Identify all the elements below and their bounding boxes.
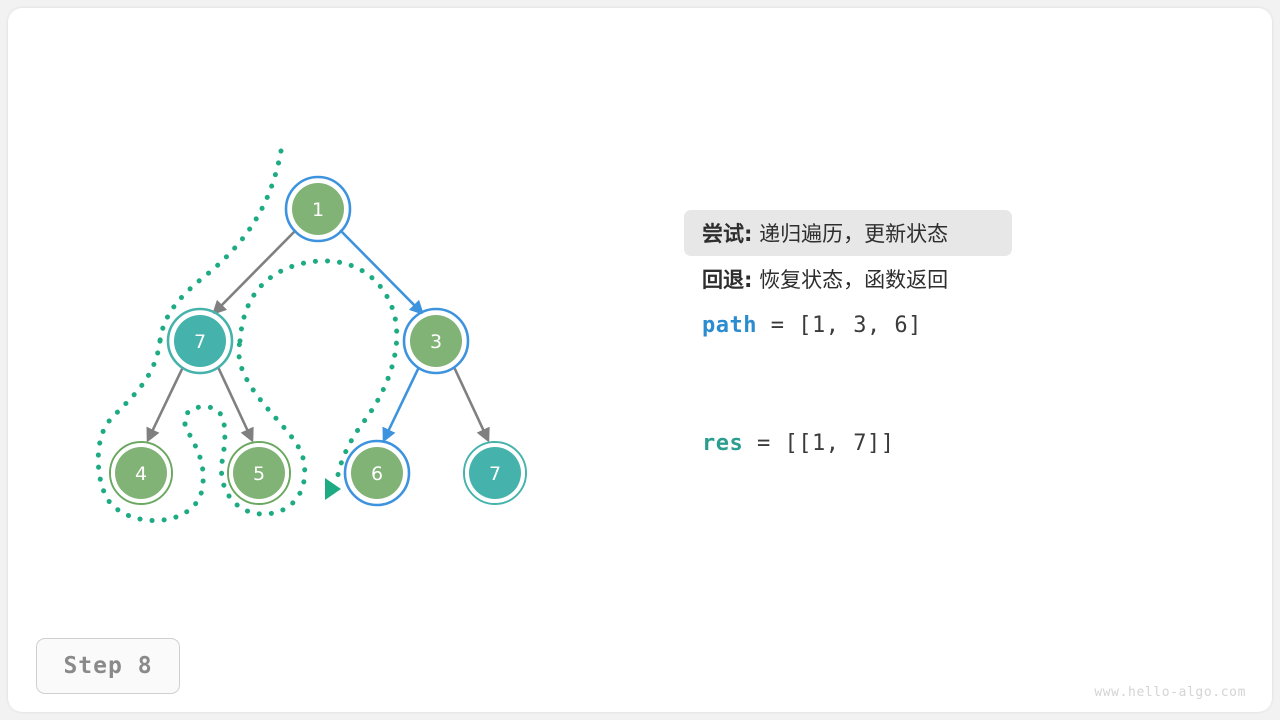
tree-nodes: 1 7 3 4 bbox=[110, 177, 526, 505]
tree-node-6[interactable]: 6 bbox=[345, 441, 409, 505]
info-row-path: path = [1, 3, 6] bbox=[684, 302, 1104, 348]
diagram-canvas: 1 7 3 4 bbox=[0, 0, 1280, 720]
tree-node-5[interactable]: 5 bbox=[228, 442, 290, 504]
tree-node-4-label: 4 bbox=[135, 463, 147, 485]
edge-1-to-7left bbox=[214, 230, 296, 313]
info-row-try: 尝试: 递归遍历，更新状态 bbox=[684, 210, 1012, 256]
trail-segment-root-to-left bbox=[160, 151, 281, 341]
trail-arrowhead bbox=[325, 478, 341, 500]
edge-7left-to-4 bbox=[148, 367, 183, 440]
path-variable-value: = [1, 3, 6] bbox=[757, 313, 922, 338]
step-badge: Step 8 bbox=[36, 638, 180, 694]
tree-node-6-label: 6 bbox=[371, 463, 383, 485]
tree-node-1[interactable]: 1 bbox=[286, 177, 350, 241]
info-row-res: res = [[1, 7]] bbox=[684, 420, 1104, 466]
tree-node-7-left[interactable]: 7 bbox=[168, 309, 232, 373]
edge-3-to-7right bbox=[454, 367, 488, 440]
tree-node-4[interactable]: 4 bbox=[110, 442, 172, 504]
state-info-panel: 尝试: 递归遍历，更新状态 回退: 恢复状态，函数返回 path = [1, 3… bbox=[684, 210, 1104, 466]
watermark: www.hello-algo.com bbox=[1094, 685, 1246, 700]
tree-node-7-right-label: 7 bbox=[489, 463, 501, 485]
info-row-spacer bbox=[684, 348, 1104, 420]
tree-node-7-right[interactable]: 7 bbox=[464, 442, 526, 504]
info-row-backtrack: 回退: 恢复状态，函数返回 bbox=[684, 256, 1104, 302]
tree-node-3[interactable]: 3 bbox=[404, 309, 468, 373]
info-row-try-text: 递归遍历，更新状态 bbox=[752, 218, 948, 248]
edge-1-to-3 bbox=[340, 230, 422, 313]
res-variable-name: res bbox=[702, 431, 743, 456]
tree-node-5-label: 5 bbox=[253, 463, 265, 485]
info-row-try-label: 尝试: bbox=[702, 218, 752, 248]
path-variable-name: path bbox=[702, 313, 757, 338]
res-variable-value: = [[1, 7]] bbox=[743, 431, 894, 456]
info-row-backtrack-label: 回退: bbox=[702, 264, 752, 294]
tree-node-7-left-label: 7 bbox=[194, 331, 206, 353]
tree-node-3-label: 3 bbox=[430, 331, 442, 353]
info-row-backtrack-text: 恢复状态，函数返回 bbox=[752, 264, 948, 294]
tree-node-1-label: 1 bbox=[312, 199, 324, 221]
